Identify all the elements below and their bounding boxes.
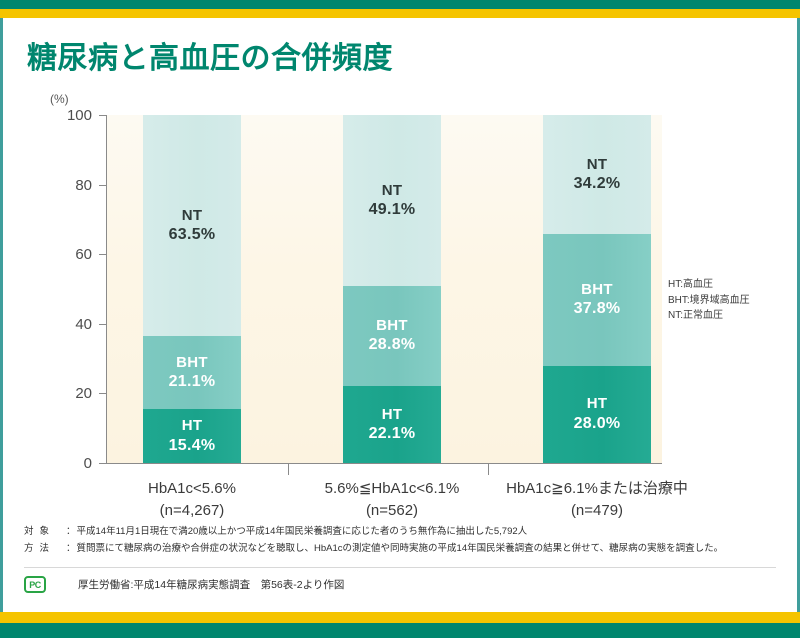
segment-label: BHT: [176, 354, 208, 372]
bar-3-segment-nt: NT34.2%: [543, 115, 651, 234]
bar-3: HT28.0%BHT37.8%NT34.2%: [543, 115, 651, 463]
y-label-40: 40: [40, 317, 92, 332]
bar-1-segment-bht: BHT21.1%: [143, 336, 241, 409]
footnote-separator-target: ：: [66, 524, 77, 541]
bar-1: HT15.4%BHT21.1%NT63.5%: [143, 115, 241, 463]
footnote-separator-method: ：: [66, 541, 77, 558]
pc-logo-icon: PC: [24, 576, 46, 593]
category-count: (n=4,267): [82, 500, 302, 522]
source-line: PC 厚生労働省:平成14年糖尿病実態調査 第56表-2より作図: [24, 576, 344, 593]
category-caption-1: HbA1c<5.6%(n=4,267): [82, 478, 302, 522]
y-tick-60: [99, 254, 107, 255]
source-divider: [24, 567, 776, 568]
footnote-key-method: 方法: [24, 541, 66, 558]
bar-1-segment-nt: NT63.5%: [143, 115, 241, 336]
bar-2: HT22.1%BHT28.8%NT49.1%: [343, 115, 441, 463]
segment-label: HT: [587, 395, 608, 413]
segment-label: HT: [382, 406, 403, 424]
segment-label: NT: [182, 207, 203, 225]
category-count: (n=479): [487, 500, 707, 522]
segment-value: 37.8%: [574, 299, 621, 319]
segment-label: NT: [587, 156, 608, 174]
footnote-row-target: 対象 ： 平成14年11月1日現在で満20歳以上かつ平成14年国民栄養調査に応じ…: [24, 524, 780, 541]
footnote-text-method: 質問票にて糖尿病の治療や合併症の状況などを聴取し、HbA1cの測定値や同時実施の…: [77, 541, 780, 558]
segment-value: 49.1%: [369, 200, 416, 220]
y-tick-80: [99, 185, 107, 186]
category-caption-3: HbA1c≧6.1%または治療中(n=479): [487, 478, 707, 522]
footnote-text-target: 平成14年11月1日現在で満20歳以上かつ平成14年国民栄養調査に応じた者のうち…: [77, 524, 780, 541]
segment-label: HT: [182, 417, 203, 435]
y-tick-0: [99, 463, 107, 464]
segment-value: 15.4%: [169, 436, 216, 456]
bar-1-segment-ht: HT15.4%: [143, 409, 241, 463]
y-label-80: 80: [40, 178, 92, 193]
segment-value: 34.2%: [574, 174, 621, 194]
y-label-20: 20: [40, 386, 92, 401]
bar-3-segment-ht: HT28.0%: [543, 366, 651, 463]
y-axis-unit-label: (%): [50, 92, 69, 106]
segment-value: 63.5%: [169, 225, 216, 245]
footnote-row-method: 方法 ： 質問票にて糖尿病の治療や合併症の状況などを聴取し、HbA1cの測定値や…: [24, 541, 780, 558]
x-axis-line: [106, 463, 662, 464]
category-count: (n=562): [282, 500, 502, 522]
category-caption-2: 5.6%≦HbA1c<6.1%(n=562): [282, 478, 502, 522]
slide-page: 糖尿病と高血圧の合併頻度 (%) 0 20 40 60 80 100 HT15.…: [0, 0, 800, 638]
y-tick-20: [99, 393, 107, 394]
segment-label: BHT: [581, 281, 613, 299]
category-separator-1: [288, 464, 289, 475]
y-label-60: 60: [40, 247, 92, 262]
category-separator-2: [488, 464, 489, 475]
footnote-key-target: 対象: [24, 524, 66, 541]
segment-label: BHT: [376, 317, 408, 335]
segment-label: NT: [382, 182, 403, 200]
bar-3-segment-bht: BHT37.8%: [543, 234, 651, 366]
category-name: 5.6%≦HbA1c<6.1%: [282, 478, 502, 500]
y-label-0: 0: [40, 456, 92, 471]
y-label-100: 100: [40, 108, 92, 123]
footnotes: 対象 ： 平成14年11月1日現在で満20歳以上かつ平成14年国民栄養調査に応じ…: [24, 524, 780, 557]
legend-entry-ht: HT:高血圧: [668, 277, 750, 293]
legend: HT:高血圧 BHT:境界域高血圧 NT:正常血圧: [668, 277, 750, 324]
legend-entry-bht: BHT:境界域高血圧: [668, 293, 750, 309]
y-axis-line: [106, 115, 107, 464]
segment-value: 22.1%: [369, 424, 416, 444]
y-tick-100: [99, 115, 107, 116]
segment-value: 28.0%: [574, 414, 621, 434]
bar-2-segment-nt: NT49.1%: [343, 115, 441, 286]
y-tick-40: [99, 324, 107, 325]
bar-2-segment-bht: BHT28.8%: [343, 286, 441, 386]
bar-2-segment-ht: HT22.1%: [343, 386, 441, 463]
segment-value: 21.1%: [169, 372, 216, 392]
segment-value: 28.8%: [369, 335, 416, 355]
category-name: HbA1c≧6.1%または治療中: [487, 478, 707, 500]
category-name: HbA1c<5.6%: [82, 478, 302, 500]
legend-entry-nt: NT:正常血圧: [668, 308, 750, 324]
source-text: 厚生労働省:平成14年糖尿病実態調査 第56表-2より作図: [78, 577, 344, 592]
